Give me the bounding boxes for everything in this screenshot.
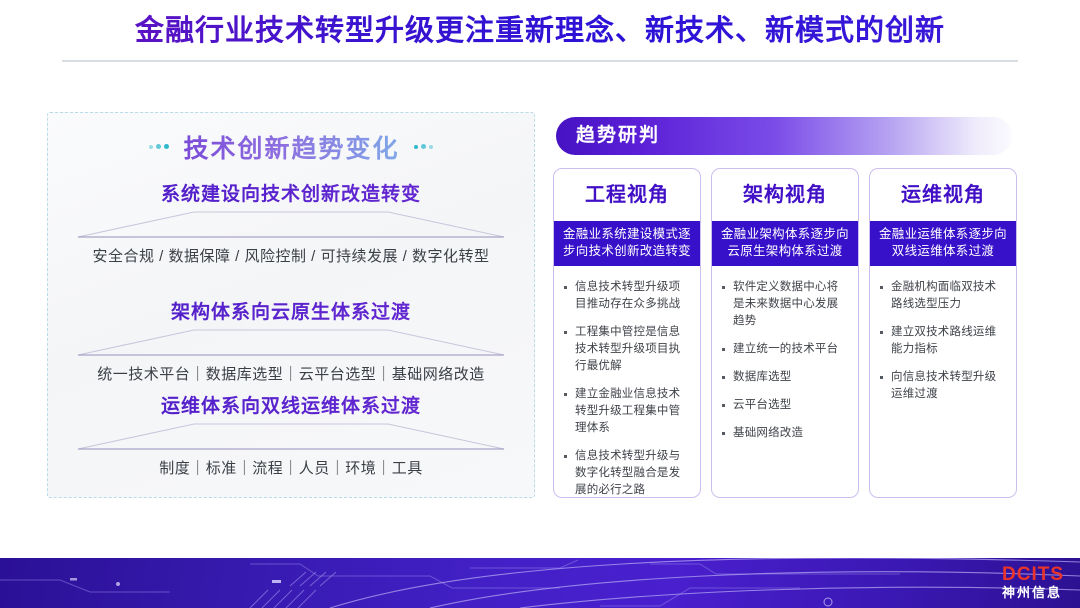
list-item: 软件定义数据中心将是未来数据中心发展趋势	[720, 279, 849, 330]
stage-2-title: 架构体系向云原生体系过渡	[48, 297, 534, 324]
card-2-bullet-list: 软件定义数据中心将是未来数据中心发展趋势 建立统一的技术平台 数据库选型 云平台…	[712, 266, 858, 442]
stage-2-funnel-icon	[76, 329, 506, 357]
trend-judgement-banner-label: 趋势研判	[576, 117, 660, 155]
list-item: 金融机构面临双技术路线选型压力	[878, 279, 1007, 313]
trend-change-panel: 技术创新趋势变化 系统建设向技术创新改造转变 安全合规 / 数据保障 / 风险控…	[47, 112, 535, 498]
list-item: 信息技术转型升级与数字化转型融合是发展的必行之路	[562, 448, 691, 498]
stage-2-items: 统一技术平台｜数据库选型｜云平台选型｜基础网络改造	[48, 363, 534, 384]
stage-2: 架构体系向云原生体系过渡 统一技术平台｜数据库选型｜云平台选型｜基础网络改造	[48, 297, 534, 384]
stage-3-items: 制度｜标准｜流程｜人员｜环境｜工具	[48, 457, 534, 478]
stage-1-funnel-icon	[76, 211, 506, 239]
trend-change-heading: 技术创新趋势变化	[183, 135, 399, 163]
list-item: 建立金融业信息技术转型升级工程集中管理体系	[562, 386, 691, 437]
card-2-banner: 金融业架构体系逐步向云原生架构体系过渡	[712, 221, 858, 266]
trend-change-heading-row: 技术创新趋势变化	[48, 129, 534, 165]
card-1-bullet-list: 信息技术转型升级项目推动存在众多挑战 工程集中管控是信息技术转型升级项目执行最优…	[554, 266, 700, 498]
list-item: 基础网络改造	[720, 425, 849, 442]
stage-3-title: 运维体系向双线运维体系过渡	[48, 391, 534, 418]
page-title: 金融行业技术转型升级更注重新理念、新技术、新模式的创新	[135, 14, 945, 49]
trend-judgement-banner: 趋势研判	[556, 117, 1012, 155]
stage-1-title: 系统建设向技术创新改造转变	[48, 179, 534, 206]
dcits-logo: DCITS 神州信息	[956, 563, 1064, 601]
stage-1: 系统建设向技术创新改造转变 安全合规 / 数据保障 / 风险控制 / 可持续发展…	[48, 179, 534, 266]
card-architecture-perspective[interactable]: 架构视角 金融业架构体系逐步向云原生架构体系过渡 软件定义数据中心将是未来数据中…	[711, 168, 859, 498]
stage-1-items: 安全合规 / 数据保障 / 风险控制 / 可持续发展 / 数字化转型	[48, 245, 534, 266]
dcits-swoosh-icon	[956, 563, 996, 601]
card-2-title: 架构视角	[712, 169, 858, 221]
list-item: 信息技术转型升级项目推动存在众多挑战	[562, 279, 691, 313]
card-engineering-perspective[interactable]: 工程视角 金融业系统建设模式逐步向技术创新改造转变 信息技术转型升级项目推动存在…	[553, 168, 701, 498]
card-operations-perspective[interactable]: 运维视角 金融业运维体系逐步向双线运维体系过渡 金融机构面临双技术路线选型压力 …	[869, 168, 1017, 498]
card-1-banner: 金融业系统建设模式逐步向技术创新改造转变	[554, 221, 700, 266]
list-item: 建立统一的技术平台	[720, 341, 849, 358]
list-item: 工程集中管控是信息技术转型升级项目执行最优解	[562, 324, 691, 375]
perspective-cards: 工程视角 金融业系统建设模式逐步向技术创新改造转变 信息技术转型升级项目推动存在…	[553, 168, 1017, 498]
page-title-container: 金融行业技术转型升级更注重新理念、新技术、新模式的创新	[0, 14, 1080, 49]
decorative-dots-left-icon	[147, 136, 170, 154]
list-item: 向信息技术转型升级运维过渡	[878, 369, 1007, 403]
stage-3: 运维体系向双线运维体系过渡 制度｜标准｜流程｜人员｜环境｜工具	[48, 391, 534, 478]
card-3-banner: 金融业运维体系逐步向双线运维体系过渡	[870, 221, 1016, 266]
card-1-title: 工程视角	[554, 169, 700, 221]
list-item: 建立双技术路线运维能力指标	[878, 324, 1007, 358]
card-3-bullet-list: 金融机构面临双技术路线选型压力 建立双技术路线运维能力指标 向信息技术转型升级运…	[870, 266, 1016, 403]
list-item: 数据库选型	[720, 369, 849, 386]
list-item: 云平台选型	[720, 397, 849, 414]
decorative-dots-right-icon	[413, 136, 435, 154]
card-3-title: 运维视角	[870, 169, 1016, 221]
stage-3-funnel-icon	[76, 423, 506, 451]
title-divider	[62, 60, 1018, 62]
footer-circuit-decoration-icon	[0, 558, 1080, 608]
slide-root: 金融行业技术转型升级更注重新理念、新技术、新模式的创新 技术创新趋势变化 系统建…	[0, 0, 1080, 608]
footer-band: DCITS 神州信息	[0, 558, 1080, 608]
